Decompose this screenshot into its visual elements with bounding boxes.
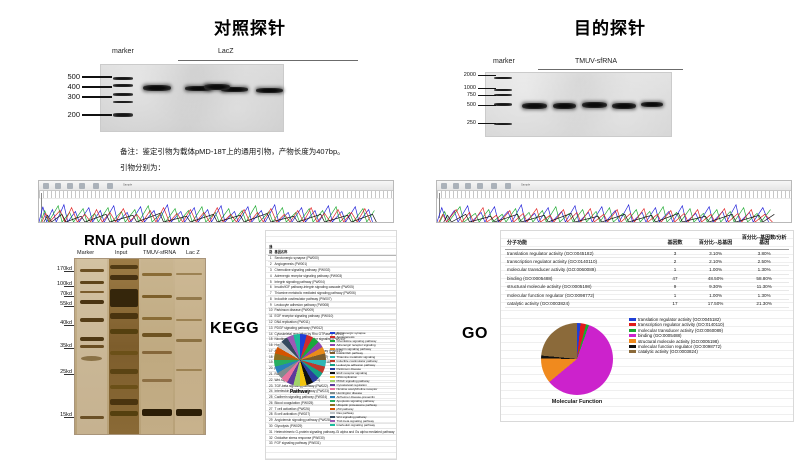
kegg-panel: 通路 基因名称 基因数目 百分比 1Serotonergic synapse (… [265, 230, 397, 460]
go-cell: molecular function regulator (GO:0098772… [505, 291, 658, 299]
ladder-label-500: 500 [52, 72, 80, 81]
legend-swatch [330, 368, 335, 370]
ladder-band [113, 101, 133, 103]
gel-band [553, 103, 576, 109]
go-cell: 2.50% [739, 257, 789, 265]
sds-lane-label-marker: Marker [77, 250, 94, 256]
sds-mw-tick [64, 286, 74, 287]
export-icon[interactable] [67, 183, 73, 189]
chromatogram-sample-label-left: Sample [123, 183, 132, 187]
sds-input-band [110, 265, 138, 269]
legend-swatch [330, 360, 335, 362]
chromatogram-trace-left [39, 199, 378, 222]
sds-marker-band [80, 269, 104, 272]
control-gel-marker-label: marker [112, 48, 134, 55]
sds-input-band [110, 329, 138, 334]
ladder-label-750: 750 [448, 92, 476, 98]
legend-swatch [330, 400, 335, 402]
reset-icon[interactable] [93, 183, 99, 189]
go-col-function: 分子功能 [505, 234, 658, 249]
legend-swatch [330, 340, 335, 342]
sds-tmuv-band [142, 273, 172, 276]
gel-band [522, 103, 547, 109]
go-cell: 11.30% [739, 283, 789, 291]
gel-band [612, 103, 636, 109]
rna-pulldown-title: RNA pull down [84, 232, 190, 249]
legend-label: molecular function regulator (GO:0098772… [638, 344, 721, 349]
sds-lane-lacz [175, 259, 203, 434]
save-icon[interactable] [453, 183, 459, 189]
legend-label: Interleukin signaling pathway [337, 423, 376, 427]
legend-swatch [629, 339, 636, 342]
target-probe-gel-panel: marker TMUV-sfRNA 2000 1000 750 500 250 [490, 58, 760, 138]
go-cell: 9.30% [692, 283, 740, 291]
sequencing-chromatogram-left[interactable]: Sample [38, 180, 394, 223]
sequencing-chromatogram-right[interactable]: Sample [436, 180, 792, 223]
ladder-band [113, 93, 133, 96]
legend-swatch [629, 345, 636, 348]
go-cell: 1.00% [692, 291, 740, 299]
ladder-band [494, 94, 512, 96]
sds-marker-band [80, 281, 104, 284]
go-panel: 分子功能 基因数 百分比--总基因 百分比--基因数/分析基因 translat… [500, 230, 794, 422]
control-gel-group-label: LacZ [218, 48, 234, 55]
sds-marker-band [81, 356, 102, 361]
kegg-cell: FGF signaling pathway (PW031) [274, 441, 396, 447]
gel-caption-line1: 备注：鉴定引物为载体pMD-18T上的通用引物，产物长度为407bp。 [120, 146, 345, 157]
go-cell: 2.10% [692, 257, 740, 265]
legend-swatch [330, 412, 335, 414]
go-cell: 1.00% [692, 266, 740, 274]
chromatogram-toolbar-right[interactable]: Sample [437, 181, 791, 191]
gel-background-texture [101, 65, 283, 131]
target-gel-group-underline [538, 69, 683, 70]
sds-marker-band [80, 300, 104, 304]
table-row: structural molecule activity (GO:0005198… [505, 283, 789, 291]
go-col-pct-total: 百分比--总基因 [692, 234, 740, 249]
go-cell: binding (GO:0005488) [505, 274, 658, 282]
kegg-cell: 1 [396, 441, 398, 447]
ladder-tick [478, 105, 496, 106]
legend-label: binding (GO:0005488) [638, 333, 681, 338]
go-cell: 3.80% [739, 249, 789, 257]
legend-item: molecular function regulator (GO:0098772… [629, 344, 791, 349]
sds-lane-label-lacz: Lac Z [186, 250, 200, 256]
ladder-tick [82, 96, 112, 98]
legend-swatch [330, 408, 335, 410]
sds-mw-tick [64, 271, 74, 272]
go-cell: 3 [658, 249, 692, 257]
sds-page-gel-image [74, 258, 206, 435]
go-cell: 48.50% [692, 274, 740, 282]
go-cell: 47 [658, 274, 692, 282]
sds-input-band [110, 385, 138, 389]
legend-swatch [330, 396, 335, 398]
control-probe-title: 对照探针 [150, 14, 350, 39]
chromatogram-toolbar-left[interactable]: Sample [39, 181, 393, 191]
ladder-label-500: 500 [448, 102, 476, 108]
target-probe-title: 目的探针 [510, 14, 710, 39]
legend-label: structural molecule activity (GO:0005198… [638, 339, 719, 344]
legend-item: catalytic activity (GO:0003824) [629, 349, 791, 354]
go-cell: 58.80% [739, 274, 789, 282]
legend-swatch [330, 376, 335, 378]
sds-marker-band [80, 291, 104, 293]
table-row: binding (GO:0005488)4748.50%58.80% [505, 274, 789, 282]
target-gel-group-label: TMUV-sfRNA [575, 58, 617, 65]
sds-input-band [110, 351, 138, 355]
target-gel-image [485, 72, 672, 137]
go-cell: molecular transducer activity (GO:006008… [505, 266, 658, 274]
go-cell: transcription regulator activity (GO:014… [505, 257, 658, 265]
go-cell: catalytic activity (GO:0003824) [505, 299, 658, 307]
sds-input-band [110, 399, 138, 405]
sds-mw-tick [64, 374, 74, 375]
ladder-band [113, 84, 133, 87]
ladder-label-400: 400 [52, 82, 80, 91]
sds-marker-band [80, 318, 104, 322]
table-row: 33FGF signaling pathway (PW031)11.30% [268, 441, 397, 447]
save-icon[interactable] [55, 183, 61, 189]
ladder-label-200: 200 [52, 110, 80, 119]
legend-swatch [629, 323, 636, 326]
ladder-tick [478, 123, 496, 124]
ladder-band [113, 77, 133, 80]
sds-lane-label-input: Input [115, 250, 127, 256]
chromatogram-sample-label-right: Sample [521, 183, 530, 187]
sds-lane-input [109, 259, 139, 434]
sds-tmuv-band [142, 379, 172, 382]
ladder-label-2000: 2000 [448, 72, 476, 78]
legend-item: Interleukin signaling pathway [330, 423, 394, 427]
legend-label: molecular transducer activity (GO:006008… [638, 328, 723, 333]
kegg-col-name: 基因名称 [274, 233, 396, 256]
sds-marker-band [80, 337, 104, 341]
go-cell: 17.50% [692, 299, 740, 307]
table-row: molecular transducer activity (GO:006008… [505, 266, 789, 274]
ladder-band [494, 77, 512, 79]
legend-swatch [330, 364, 335, 366]
ladder-tick [478, 95, 496, 96]
kegg-table-header-row: 通路 基因名称 基因数目 百分比 [268, 233, 397, 256]
legend-item: binding (GO:0005488) [629, 333, 791, 338]
go-cell: 17 [658, 299, 692, 307]
target-gel-marker-label: marker [493, 58, 515, 65]
kegg-label: KEGG [210, 320, 259, 338]
sds-lacz-band [176, 369, 202, 371]
go-cell: 1.30% [739, 266, 789, 274]
sds-tmuv-band [142, 317, 172, 320]
sds-tmuv-band [142, 409, 172, 416]
print-icon[interactable] [79, 183, 85, 189]
legend-swatch [629, 350, 636, 353]
go-cell: 9 [658, 283, 692, 291]
legend-swatch [330, 404, 335, 406]
control-gel-image [100, 64, 284, 132]
go-table: 分子功能 基因数 百分比--总基因 百分比--基因数/分析基因 translat… [505, 234, 789, 308]
find-icon[interactable] [107, 183, 113, 189]
table-row: transcription regulator activity (GO:014… [505, 257, 789, 265]
go-cell: translation regulator activity (GO:00451… [505, 249, 658, 257]
chromatogram-trace-right [437, 199, 776, 222]
sds-marker-band [80, 416, 104, 419]
go-pie-caption: Molecular Function [531, 399, 623, 405]
legend-swatch [330, 424, 335, 426]
go-col-pct-analyzed: 百分比--基因数/分析基因 [739, 234, 789, 249]
go-col-gene-count: 基因数 [658, 234, 692, 249]
kegg-pie-chart [274, 334, 326, 386]
ladder-band [494, 123, 512, 125]
go-cell: 2 [658, 257, 692, 265]
chromatogram-ruler-right [437, 191, 791, 199]
sds-mw-tick [64, 306, 74, 307]
table-row: translation regulator activity (GO:00451… [505, 249, 789, 257]
legend-label: transcription regulator activity (GO:014… [638, 322, 724, 327]
reset-icon[interactable] [491, 183, 497, 189]
chromatogram-ruler-left [39, 191, 393, 199]
legend-swatch [330, 384, 335, 386]
sds-input-band [110, 411, 138, 416]
legend-label: translation regulator activity (GO:00451… [638, 317, 721, 322]
legend-swatch [330, 336, 335, 338]
sds-lacz-band [176, 409, 202, 416]
go-cell: 21.30% [739, 299, 789, 307]
sds-lacz-band [176, 297, 202, 300]
sds-lane-tmuv-sfrna [141, 259, 173, 434]
gel-caption-line2: 引物分别为： [120, 162, 165, 173]
control-probe-gel-panel: marker LacZ 500 400 300 200 [100, 48, 380, 133]
ladder-tick [82, 86, 112, 88]
sds-tmuv-band [142, 295, 172, 298]
legend-item: molecular transducer activity (GO:006008… [629, 328, 791, 333]
go-legend: translation regulator activity (GO:00451… [629, 317, 791, 355]
find-icon[interactable] [505, 183, 511, 189]
export-icon[interactable] [465, 183, 471, 189]
kegg-col-count: 基因数目 [396, 233, 398, 256]
ladder-label-300: 300 [52, 92, 80, 101]
ladder-band [494, 89, 512, 91]
ladder-label-1000: 1000 [448, 85, 476, 91]
sds-input-band [110, 313, 138, 319]
ladder-label-250: 250 [448, 120, 476, 126]
sds-lacz-band [176, 273, 202, 275]
ladder-band [113, 113, 133, 117]
legend-swatch [629, 318, 636, 321]
legend-swatch [330, 348, 335, 350]
go-cell: 1.30% [739, 291, 789, 299]
legend-swatch [330, 416, 335, 418]
sds-mw-tick [64, 296, 74, 297]
legend-swatch [330, 380, 335, 382]
legend-swatch [330, 344, 335, 346]
ladder-tick [478, 88, 496, 89]
legend-swatch [330, 332, 335, 334]
open-icon[interactable] [43, 183, 49, 189]
legend-swatch [330, 420, 335, 422]
legend-swatch [330, 388, 335, 390]
table-row: molecular function regulator (GO:0098772… [505, 291, 789, 299]
legend-swatch [330, 392, 335, 394]
ladder-tick [82, 114, 112, 116]
legend-label: catalytic activity (GO:0003824) [638, 349, 698, 354]
go-cell: 3.10% [692, 249, 740, 257]
go-cell: 1 [658, 266, 692, 274]
legend-item: translation regulator activity (GO:00451… [629, 317, 791, 322]
table-row: catalytic activity (GO:0003824)1717.50%2… [505, 299, 789, 307]
sds-input-band [110, 289, 138, 307]
sds-tmuv-band [142, 333, 172, 337]
ladder-tick [478, 75, 496, 76]
legend-swatch [629, 334, 636, 337]
legend-swatch [330, 352, 335, 354]
legend-swatch [629, 329, 636, 332]
sds-tmuv-band [142, 351, 172, 354]
ladder-tick [82, 76, 112, 78]
legend-swatch [330, 356, 335, 358]
gel-band [641, 102, 663, 107]
open-icon[interactable] [441, 183, 447, 189]
sds-mw-tick [64, 417, 74, 418]
legend-item: transcription regulator activity (GO:014… [629, 322, 791, 327]
go-pie-chart [541, 323, 613, 395]
kegg-legend: Serotonergic synapseAngiogenesisChemokin… [330, 331, 394, 427]
sds-lane-label-tmuv-sfrna: TMUV-sfRNA [143, 250, 176, 256]
gel-band [256, 88, 283, 93]
go-label: GO [462, 325, 488, 343]
sds-input-band [110, 369, 138, 374]
sds-marker-band [80, 345, 104, 348]
gel-band [204, 84, 230, 90]
legend-swatch [330, 372, 335, 374]
kegg-pie-caption: Pathway [274, 389, 326, 395]
gel-band [143, 85, 171, 91]
sds-input-band [110, 275, 138, 280]
gel-band [582, 102, 607, 108]
ladder-band [494, 103, 512, 106]
sds-lacz-band [176, 319, 202, 321]
print-icon[interactable] [477, 183, 483, 189]
sds-mw-tick [64, 325, 74, 326]
sds-mw-tick [64, 348, 74, 349]
sds-lacz-band [176, 339, 202, 342]
go-table-header-row: 分子功能 基因数 百分比--总基因 百分比--基因数/分析基因 [505, 234, 789, 249]
control-gel-group-underline [178, 60, 358, 61]
go-cell: structural molecule activity (GO:0005198… [505, 283, 658, 291]
legend-item: structural molecule activity (GO:0005198… [629, 339, 791, 344]
go-cell: 1 [658, 291, 692, 299]
